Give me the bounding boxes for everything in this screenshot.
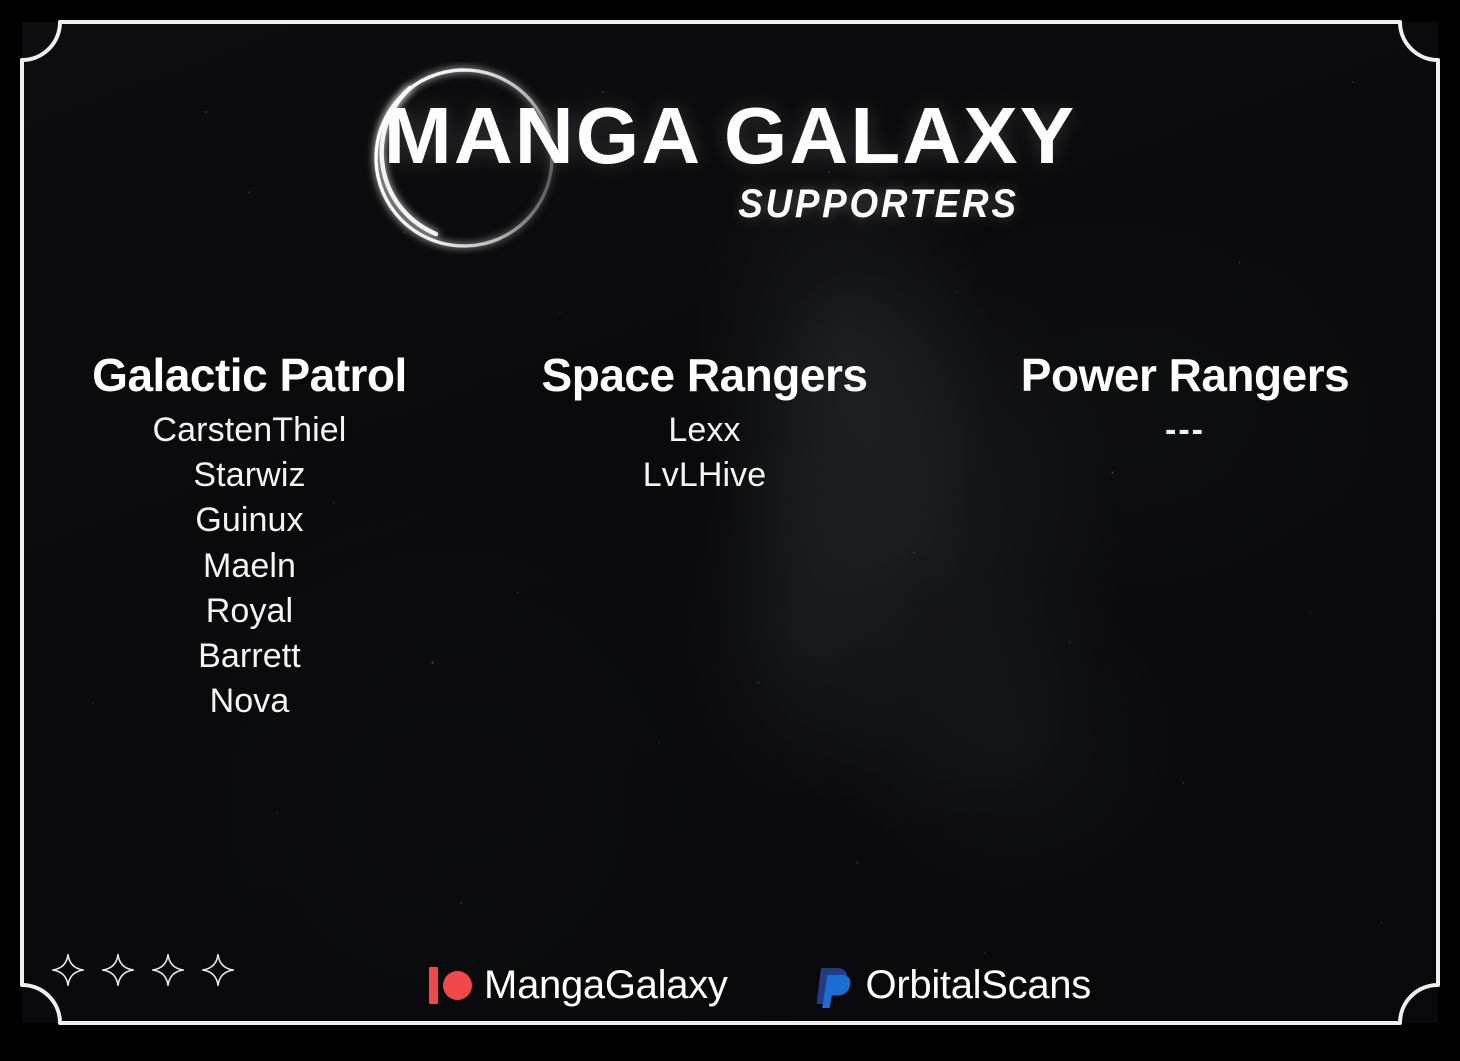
supporter-list: Lexx LvLHive [477, 408, 932, 498]
empty-placeholder: --- [932, 408, 1438, 453]
supporter-name: Royal [22, 589, 477, 634]
tier-column-power-rangers: Power Rangers --- [932, 352, 1438, 453]
supporter-name: CarstenThiel [22, 408, 477, 453]
supporter-name: Nova [22, 679, 477, 724]
supporter-name: Guinux [22, 498, 477, 543]
paypal-link[interactable]: OrbitalScans [814, 963, 1091, 1008]
tier-column-space-rangers: Space Rangers Lexx LvLHive [477, 352, 932, 498]
supporter-list: --- [932, 408, 1438, 453]
supporter-name: Lexx [477, 408, 932, 453]
support-links: MangaGalaxy OrbitalScans [22, 948, 1438, 1023]
footer: MangaGalaxy OrbitalScans [22, 948, 1438, 1023]
tier-columns: Galactic Patrol CarstenThiel Starwiz Gui… [22, 352, 1438, 725]
brand-subtitle-wrap: SUPPORTERS [0, 182, 1460, 227]
patreon-link[interactable]: MangaGalaxy [429, 963, 728, 1008]
paypal-label: OrbitalScans [866, 963, 1091, 1008]
header-title-block: MANGA GALAXY SUPPORTERS [0, 98, 1460, 174]
brand-title: MANGA GALAXY [0, 98, 1460, 174]
tier-column-galactic-patrol: Galactic Patrol CarstenThiel Starwiz Gui… [22, 352, 477, 725]
patreon-icon [429, 967, 472, 1004]
supporter-name: Maeln [22, 544, 477, 589]
supporter-name: LvLHive [477, 453, 932, 498]
supporter-name: Barrett [22, 634, 477, 679]
brand-subtitle: SUPPORTERS [738, 182, 1018, 227]
supporters-poster: MANGA GALAXY SUPPORTERS Galactic Patrol … [0, 0, 1460, 1061]
tier-title: Power Rangers [932, 352, 1438, 398]
patreon-label: MangaGalaxy [484, 963, 728, 1008]
supporter-list: CarstenThiel Starwiz Guinux Maeln Royal … [22, 408, 477, 725]
supporter-name: Starwiz [22, 453, 477, 498]
paypal-icon [814, 964, 854, 1008]
tier-title: Galactic Patrol [22, 352, 477, 398]
tier-title: Space Rangers [477, 352, 932, 398]
